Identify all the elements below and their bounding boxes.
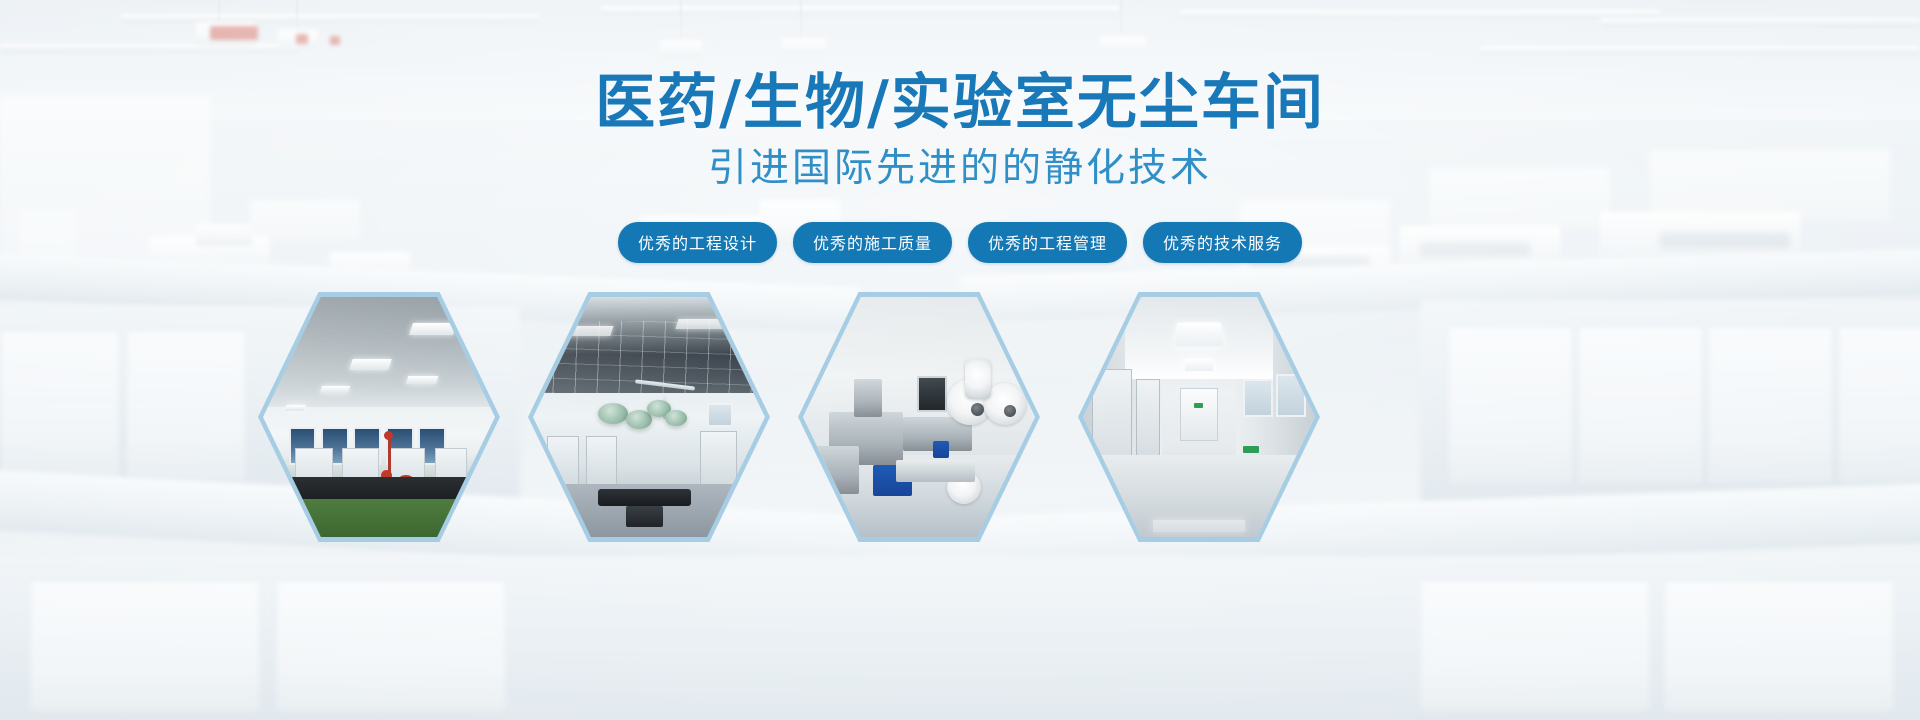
hexagon-image-clip: [1083, 297, 1315, 537]
hexagon-operating-room-cleanroom[interactable]: [528, 292, 770, 542]
photo-production-line-cleanroom: [803, 297, 1035, 537]
pill-engineering-management[interactable]: 优秀的工程管理: [968, 222, 1127, 263]
hexagon-image-clip: [263, 297, 495, 537]
pill-technical-service[interactable]: 优秀的技术服务: [1143, 222, 1302, 263]
hexagon-gallery: [0, 292, 1920, 542]
feature-pill-list: 优秀的工程设计 优秀的施工质量 优秀的工程管理 优秀的技术服务: [0, 222, 1920, 263]
hexagon-image-clip: [533, 297, 765, 537]
pill-construction-quality[interactable]: 优秀的施工质量: [793, 222, 952, 263]
hexagon-production-line-cleanroom[interactable]: [798, 292, 1040, 542]
pill-engineering-design[interactable]: 优秀的工程设计: [618, 222, 777, 263]
hexagon-corridor-cleanroom[interactable]: [1078, 292, 1320, 542]
headline-block: 医药/生物/实验室无尘车间 引进国际先进的的静化技术: [0, 72, 1920, 190]
page-subtitle: 引进国际先进的的静化技术: [0, 148, 1920, 191]
page-title: 医药/生物/实验室无尘车间: [0, 72, 1920, 136]
hexagon-laboratory-cleanroom[interactable]: [258, 292, 500, 542]
hexagon-image-clip: [803, 297, 1035, 537]
photo-corridor-cleanroom: [1083, 297, 1315, 537]
photo-laboratory-cleanroom: [263, 297, 495, 537]
cleanroom-hero-banner: 医药/生物/实验室无尘车间 引进国际先进的的静化技术 优秀的工程设计 优秀的施工…: [0, 0, 1920, 720]
photo-operating-room-cleanroom: [533, 297, 765, 537]
